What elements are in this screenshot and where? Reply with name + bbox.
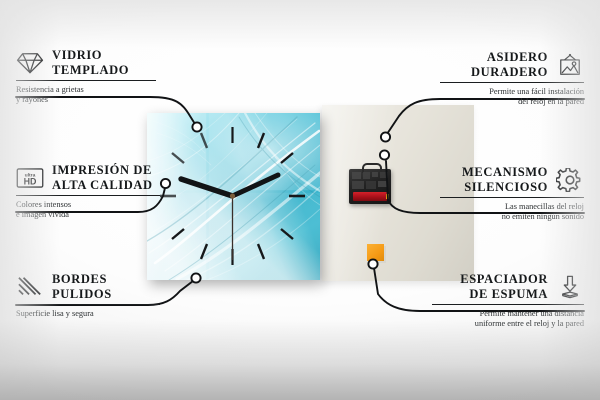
feature-mecanismo-silencioso: MECANISMO SILENCIOSO Las manecillas del …	[440, 165, 584, 223]
feature-title-line2: PULIDOS	[52, 287, 112, 302]
feature-subtitle-line2: y rayones	[16, 95, 156, 106]
feature-subtitle: Permite mantener una distancia uniforme …	[432, 309, 584, 330]
feature-title: VIDRIO TEMPLADO	[52, 48, 129, 77]
feature-subtitle-line1: Las manecillas del reloj	[440, 202, 584, 213]
feature-title-line1: IMPRESIÓN DE	[52, 163, 153, 178]
feature-subtitle-line1: Colores intensos	[16, 200, 160, 211]
ultra-hd-icon-big-label: HD	[24, 176, 37, 186]
feature-title-line2: ALTA CALIDAD	[52, 178, 153, 193]
feature-subtitle-line2: e imagen vívida	[16, 210, 160, 221]
feature-subtitle-line1: Permite mantener una distancia	[432, 309, 584, 320]
feature-title: MECANISMO SILENCIOSO	[462, 165, 548, 194]
feature-divider	[16, 304, 160, 305]
feature-header: ASIDERO DURADERO	[440, 50, 584, 79]
connector-dot-impresion	[161, 179, 170, 188]
gear-icon	[556, 168, 584, 192]
feature-header: ESPACIADOR DE ESPUMA	[432, 272, 584, 301]
feature-title-line2: DE ESPUMA	[460, 287, 548, 302]
connector-dot-bordes	[191, 273, 200, 282]
feature-title-line1: ASIDERO	[471, 50, 548, 65]
feature-bordes-pulidos: BORDES PULIDOS Superficie lisa y segura	[16, 272, 160, 319]
feature-divider	[432, 304, 584, 305]
connector-dot-vidrio-templado	[192, 122, 201, 131]
hanging-frame-icon	[556, 53, 584, 77]
feature-title-line2: SILENCIOSO	[462, 180, 548, 195]
feature-header: VIDRIO TEMPLADO	[16, 48, 156, 77]
feature-divider	[16, 80, 156, 81]
feature-vidrio-templado: VIDRIO TEMPLADO Resistencia a grietas y …	[16, 48, 156, 106]
feature-title-line1: VIDRIO	[52, 48, 129, 63]
feature-subtitle-line2: del reloj en la pared	[440, 97, 584, 108]
infographic-canvas: VIDRIO TEMPLADO Resistencia a grietas y …	[0, 0, 600, 400]
feature-title-line1: MECANISMO	[462, 165, 548, 180]
ultra-hd-icon: ultra HD	[16, 166, 44, 190]
feature-impresion-alta-calidad: ultra HD IMPRESIÓN DE ALTA CALIDAD Color…	[16, 163, 160, 221]
polished-edges-icon	[16, 275, 44, 299]
connector-dot-mecanismo	[380, 150, 389, 159]
feature-subtitle: Colores intensos e imagen vívida	[16, 200, 160, 221]
feature-subtitle-line1: Resistencia a grietas	[16, 85, 156, 96]
feature-title: ASIDERO DURADERO	[471, 50, 548, 79]
feature-header: ultra HD IMPRESIÓN DE ALTA CALIDAD	[16, 163, 160, 192]
feature-title-line1: ESPACIADOR	[460, 272, 548, 287]
feature-divider	[16, 195, 160, 196]
feature-divider	[440, 197, 584, 198]
feature-title-line2: DURADERO	[471, 65, 548, 80]
connector-dot-asidero	[381, 132, 390, 141]
feature-subtitle-line2: uniforme entre el reloj y la pared	[432, 319, 584, 330]
feature-subtitle: Las manecillas del reloj no emiten ningú…	[440, 202, 584, 223]
feature-subtitle-line1: Superficie lisa y segura	[16, 309, 160, 320]
feature-subtitle: Permite una fácil instalación del reloj …	[440, 87, 584, 108]
feature-title: BORDES PULIDOS	[52, 272, 112, 301]
feature-title-line1: BORDES	[52, 272, 112, 287]
diamond-icon	[16, 51, 44, 75]
feature-asidero-duradero: ASIDERO DURADERO Permite una fácil insta…	[440, 50, 584, 108]
feature-subtitle: Superficie lisa y segura	[16, 309, 160, 320]
feature-divider	[440, 82, 584, 83]
feature-title-line2: TEMPLADO	[52, 63, 129, 78]
feature-subtitle-line2: no emiten ningún sonido	[440, 212, 584, 223]
feature-espaciador-de-espuma: ESPACIADOR DE ESPUMA Permite mantener un…	[432, 272, 584, 330]
feature-subtitle: Resistencia a grietas y rayones	[16, 85, 156, 106]
feature-subtitle-line1: Permite una fácil instalación	[440, 87, 584, 98]
feature-title: IMPRESIÓN DE ALTA CALIDAD	[52, 163, 153, 192]
foam-spacer-arrow-icon	[556, 275, 584, 299]
feature-title: ESPACIADOR DE ESPUMA	[460, 272, 548, 301]
connector-dot-espaciador	[368, 259, 377, 268]
feature-header: MECANISMO SILENCIOSO	[440, 165, 584, 194]
feature-header: BORDES PULIDOS	[16, 272, 160, 301]
